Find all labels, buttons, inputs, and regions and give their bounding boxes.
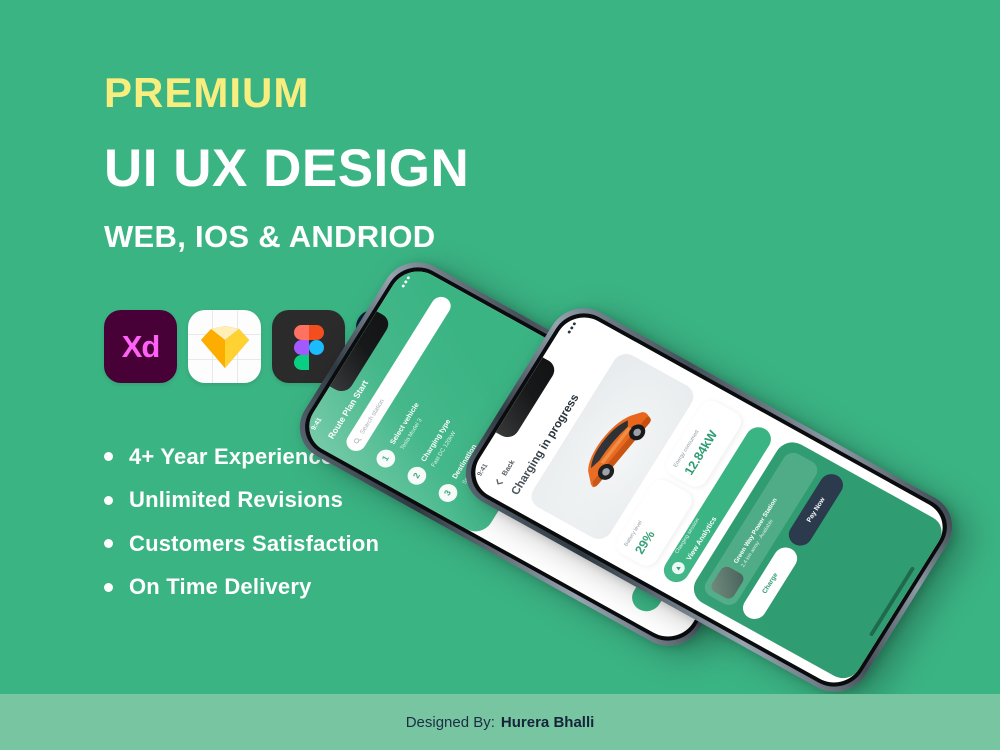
list-item: On Time Delivery xyxy=(104,566,379,610)
list-item-label: On Time Delivery xyxy=(129,574,312,600)
bullet-dot-icon xyxy=(104,539,113,548)
search-icon xyxy=(352,436,361,445)
step-badge-icon: 2 xyxy=(404,463,430,487)
poster-canvas: PREMIUM UI UX DESIGN WEB, IOS & ANDRIOD … xyxy=(0,0,1000,750)
kicker-text: PREMIUM xyxy=(104,72,574,114)
chart-icon: ▲ xyxy=(669,560,687,577)
adobe-xd-icon[interactable]: Xd xyxy=(104,310,177,383)
phone-bezel: 9:41 Back Charging in progress xyxy=(459,302,958,697)
status-indicators-icon xyxy=(567,322,576,334)
list-item: Customers Satisfaction xyxy=(104,522,379,566)
station-thumbnail-image xyxy=(709,564,746,601)
step-badge-icon: 3 xyxy=(435,481,461,505)
footer-band: Designed By: Hurera Bhalli xyxy=(0,694,1000,750)
designer-name: Hurera Bhalli xyxy=(501,714,594,731)
figma-glyph xyxy=(294,325,324,369)
designed-by-label: Designed By: xyxy=(406,714,495,731)
bullet-dot-icon xyxy=(104,496,113,505)
chevron-left-icon xyxy=(494,478,505,487)
list-item-label: 4+ Year Experience xyxy=(129,444,333,470)
phone-screen-front: 9:41 Back Charging in progress xyxy=(465,308,954,693)
list-item-label: Unlimited Revisions xyxy=(129,487,343,513)
step-badge-icon: 1 xyxy=(373,446,399,470)
search-placeholder: Search station xyxy=(358,398,385,435)
sketch-icon[interactable] xyxy=(188,310,261,383)
list-item: Unlimited Revisions xyxy=(104,479,379,523)
adobe-xd-label: Xd xyxy=(122,329,160,365)
bullet-dot-icon xyxy=(104,583,113,592)
sketch-diamond-glyph xyxy=(201,326,249,368)
status-indicators-icon xyxy=(401,276,410,288)
page-title: UI UX DESIGN xyxy=(104,142,574,195)
status-time: 9:41 xyxy=(310,417,323,432)
status-time: 9:41 xyxy=(476,463,489,478)
station-title: Green Way Power Station xyxy=(732,497,778,565)
bullet-dot-icon xyxy=(104,452,113,461)
list-item-label: Customers Satisfaction xyxy=(129,531,379,557)
phone-mockup-group: 9:41 Route Plan Start Search station xyxy=(415,225,935,525)
